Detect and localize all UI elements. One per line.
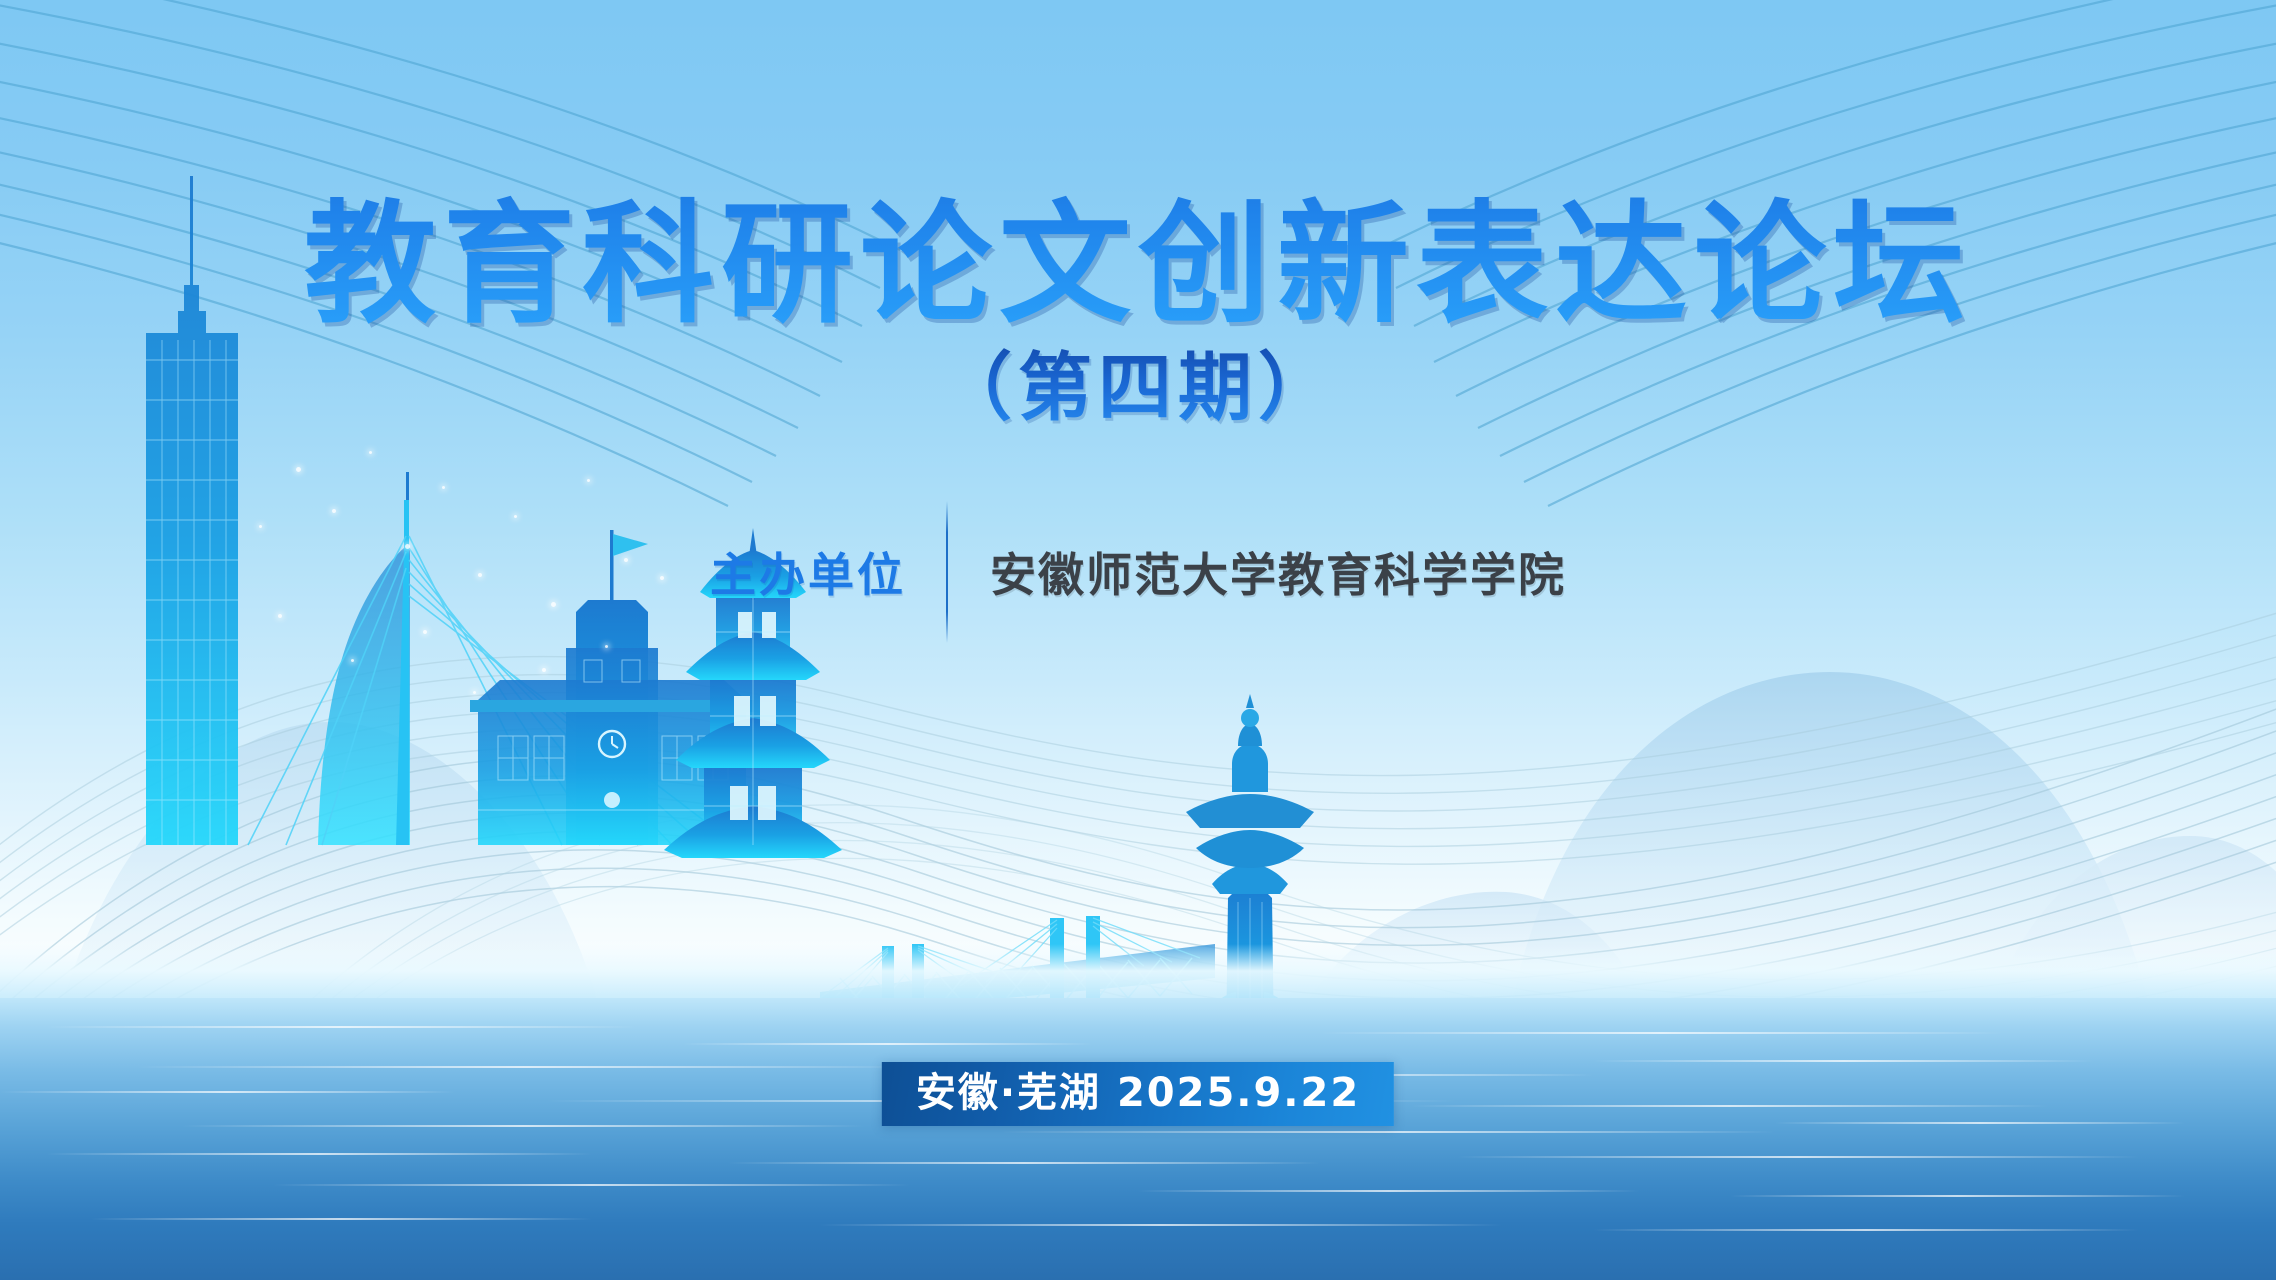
organizer-name: 安徽师范大学教育科学学院 bbox=[948, 539, 1566, 605]
location-date-badge: 安徽·芜湖 2025.9.22 bbox=[882, 1062, 1394, 1126]
page-title: 教育科研论文创新表达论坛 bbox=[0, 0, 2276, 336]
poster-text-block: 教育科研论文创新表达论坛 （第四期） 主办单位 安徽师范大学教育科学学院 bbox=[0, 0, 2276, 643]
organizer-label: 主办单位 bbox=[710, 539, 946, 605]
conference-poster: 教育科研论文创新表达论坛 （第四期） 主办单位 安徽师范大学教育科学学院 安徽·… bbox=[0, 0, 2276, 1280]
organizer-row: 主办单位 安徽师范大学教育科学学院 bbox=[0, 501, 2276, 643]
page-subtitle: （第四期） bbox=[0, 348, 2276, 429]
